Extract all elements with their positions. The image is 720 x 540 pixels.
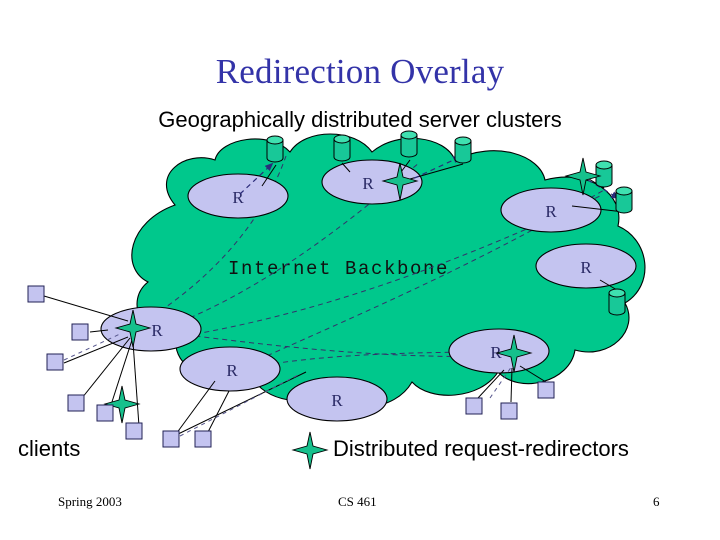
router-node[interactable]: R: [449, 329, 549, 373]
router-label: R: [226, 361, 238, 380]
footer-page-number: 6: [653, 494, 660, 510]
client-square-icon[interactable]: [72, 324, 88, 340]
router-label: R: [545, 202, 557, 221]
server-cylinder-icon[interactable]: [609, 289, 625, 315]
router-label: R: [362, 174, 374, 193]
server-cylinder-icon[interactable]: [596, 161, 612, 187]
server-cylinder-icon[interactable]: [616, 187, 632, 213]
client-square-icon[interactable]: [466, 398, 482, 414]
footer-course: CS 461: [338, 494, 377, 510]
router-node[interactable]: R: [501, 188, 601, 232]
router-node[interactable]: R: [180, 347, 280, 391]
cloud-label: Internet Backbone: [228, 258, 449, 280]
slide-subtitle: Geographically distributed server cluste…: [0, 107, 720, 133]
server-cylinder-icon[interactable]: [267, 136, 283, 162]
client-square-icon[interactable]: [68, 395, 84, 411]
clients-legend-label: clients: [18, 436, 80, 462]
client-square-icon[interactable]: [163, 431, 179, 447]
server-cylinder-icon[interactable]: [455, 137, 471, 163]
server-cylinder-icon[interactable]: [401, 131, 417, 157]
router-node[interactable]: R: [536, 244, 636, 288]
router-label: R: [580, 258, 592, 277]
server-cylinder-icon[interactable]: [334, 135, 350, 161]
page-title: Redirection Overlay: [0, 52, 720, 92]
router-node[interactable]: R: [287, 377, 387, 421]
router-node[interactable]: R: [188, 174, 288, 218]
router-label: R: [151, 321, 163, 340]
client-square-icon[interactable]: [195, 431, 211, 447]
slide-canvas: Internet Backbone R R R: [0, 0, 720, 540]
router-node[interactable]: R: [101, 307, 201, 351]
client-square-icon[interactable]: [97, 405, 113, 421]
redirectors-legend-label: Distributed request-redirectors: [333, 436, 629, 462]
router-label: R: [331, 391, 343, 410]
client-square-icon[interactable]: [47, 354, 63, 370]
legend-four-point-star-icon: [293, 432, 327, 469]
client-square-icon[interactable]: [28, 286, 44, 302]
client-square-icon[interactable]: [126, 423, 142, 439]
client-square-icon[interactable]: [538, 382, 554, 398]
footer-date: Spring 2003: [58, 494, 122, 510]
client-square-icon[interactable]: [501, 403, 517, 419]
